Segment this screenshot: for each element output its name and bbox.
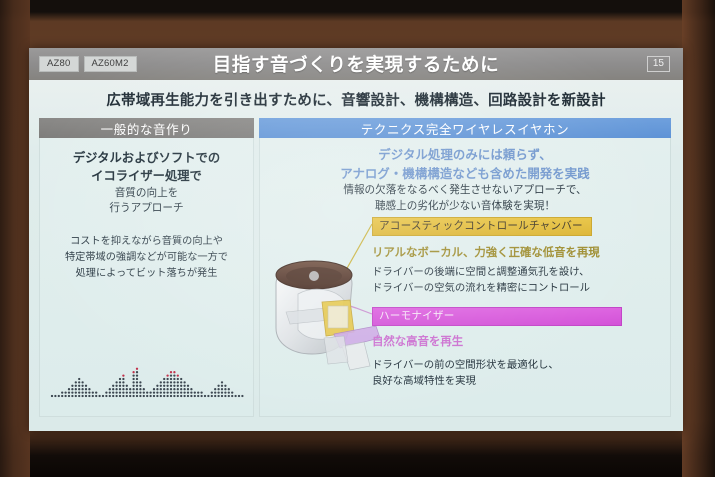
- conventional-lead-line2: イコライザー処理で: [40, 168, 253, 186]
- technics-lead: デジタル処理のみには頼らず、 アナログ・機構構造なども含めた開発を実践 情報の欠…: [260, 138, 670, 215]
- feature-acoustic-control-chamber: アコースティックコントロールチャンバー リアルなボーカル、力強く正確な低音を再現…: [372, 216, 668, 297]
- technics-lead-line2: アナログ・機構構造なども含めた開発を実践: [260, 165, 670, 184]
- presentation-slide: AZ80 AZ60M2 目指す音づくりを実現するために 15 広帯域再生能力を引…: [29, 48, 683, 431]
- badge-az60m2: AZ60M2: [84, 56, 137, 72]
- panel-technics: デジタル処理のみには頼らず、 アナログ・機構構造なども含めた開発を実践 情報の欠…: [259, 138, 671, 417]
- conventional-lead-line1: デジタルおよびソフトでの: [40, 150, 253, 168]
- column-header-technics: テクニクス完全ワイヤレスイヤホン: [259, 118, 671, 138]
- feature-tag-acoustic-control-chamber: アコースティックコントロールチャンバー: [372, 217, 592, 237]
- feature-detail-acc-line2: ドライバーの空気の流れを精密にコントロール: [372, 281, 668, 297]
- technics-lead-line1: デジタル処理のみには頼らず、: [260, 146, 670, 165]
- conventional-lead: デジタルおよびソフトでの イコライザー処理で 音質の向上を 行うアプローチ: [40, 138, 253, 216]
- model-badges: AZ80 AZ60M2: [39, 56, 137, 72]
- comparison-columns: 一般的な音作り デジタルおよびソフトでの イコライザー処理で 音質の向上を 行う…: [39, 118, 673, 418]
- equalizer-dot-matrix-icon: [48, 336, 246, 400]
- column-conventional: 一般的な音作り デジタルおよびソフトでの イコライザー処理で 音質の向上を 行う…: [39, 118, 254, 418]
- technics-lead-line4: 聴感上の劣化が少ない音体験を実現！: [260, 199, 670, 215]
- equalizer-dot-matrix: [48, 336, 246, 400]
- conventional-note-line2: 特定帯域の強調などが可能な一方で: [40, 250, 253, 266]
- feature-detail-acc-line1: ドライバーの後端に空間と調整通気孔を設け、: [372, 265, 668, 281]
- conventional-note-line3: 処理によってビット落ちが発生: [40, 266, 253, 282]
- badge-az80: AZ80: [39, 56, 79, 72]
- column-header-conventional: 一般的な音作り: [39, 118, 254, 138]
- feature-detail-harm-line1: ドライバーの前の空間形状を最適化し、: [372, 358, 668, 374]
- feature-harmonizer: ハーモナイザー 自然な高音を再生 ドライバーの前の空間形状を最適化し、 良好な高…: [372, 306, 668, 390]
- conventional-lead-line3: 音質の向上を: [40, 186, 253, 201]
- conventional-note: コストを抑えながら音質の向上や 特定帯域の強調などが可能な一方で 処理によってビ…: [40, 216, 253, 281]
- feature-headline-acoustic-control-chamber: リアルなボーカル、力強く正確な低音を再現: [372, 244, 668, 260]
- conventional-lead-line4: 行うアプローチ: [40, 201, 253, 216]
- conventional-note-line1: コストを抑えながら音質の向上や: [40, 234, 253, 250]
- column-technics: テクニクス完全ワイヤレスイヤホン デジタル処理のみには頼らず、 アナログ・機構構…: [259, 118, 671, 418]
- panel-conventional: デジタルおよびソフトでの イコライザー処理で 音質の向上を 行うアプローチ コス…: [39, 138, 254, 417]
- technics-lead-line3: 情報の欠落をなるべく発生させないアプローチで、: [260, 183, 670, 199]
- wall-left-shadow: [0, 0, 30, 477]
- slide-subtitle: 広帯域再生能力を引き出すために、音響設計、機構構造、回路設計を新設計: [39, 89, 673, 110]
- slide-body: 広帯域再生能力を引き出すために、音響設計、機構構造、回路設計を新設計 一般的な音…: [29, 80, 683, 431]
- feature-detail-harm-line2: 良好な高域特性を実現: [372, 374, 668, 390]
- slide-titlebar: AZ80 AZ60M2 目指す音づくりを実現するために 15: [29, 48, 683, 80]
- wall-right-shadow: [682, 0, 715, 477]
- feature-headline-harmonizer: 自然な高音を再生: [372, 333, 668, 349]
- feature-tag-harmonizer: ハーモナイザー: [372, 307, 622, 327]
- page-number: 15: [647, 56, 670, 72]
